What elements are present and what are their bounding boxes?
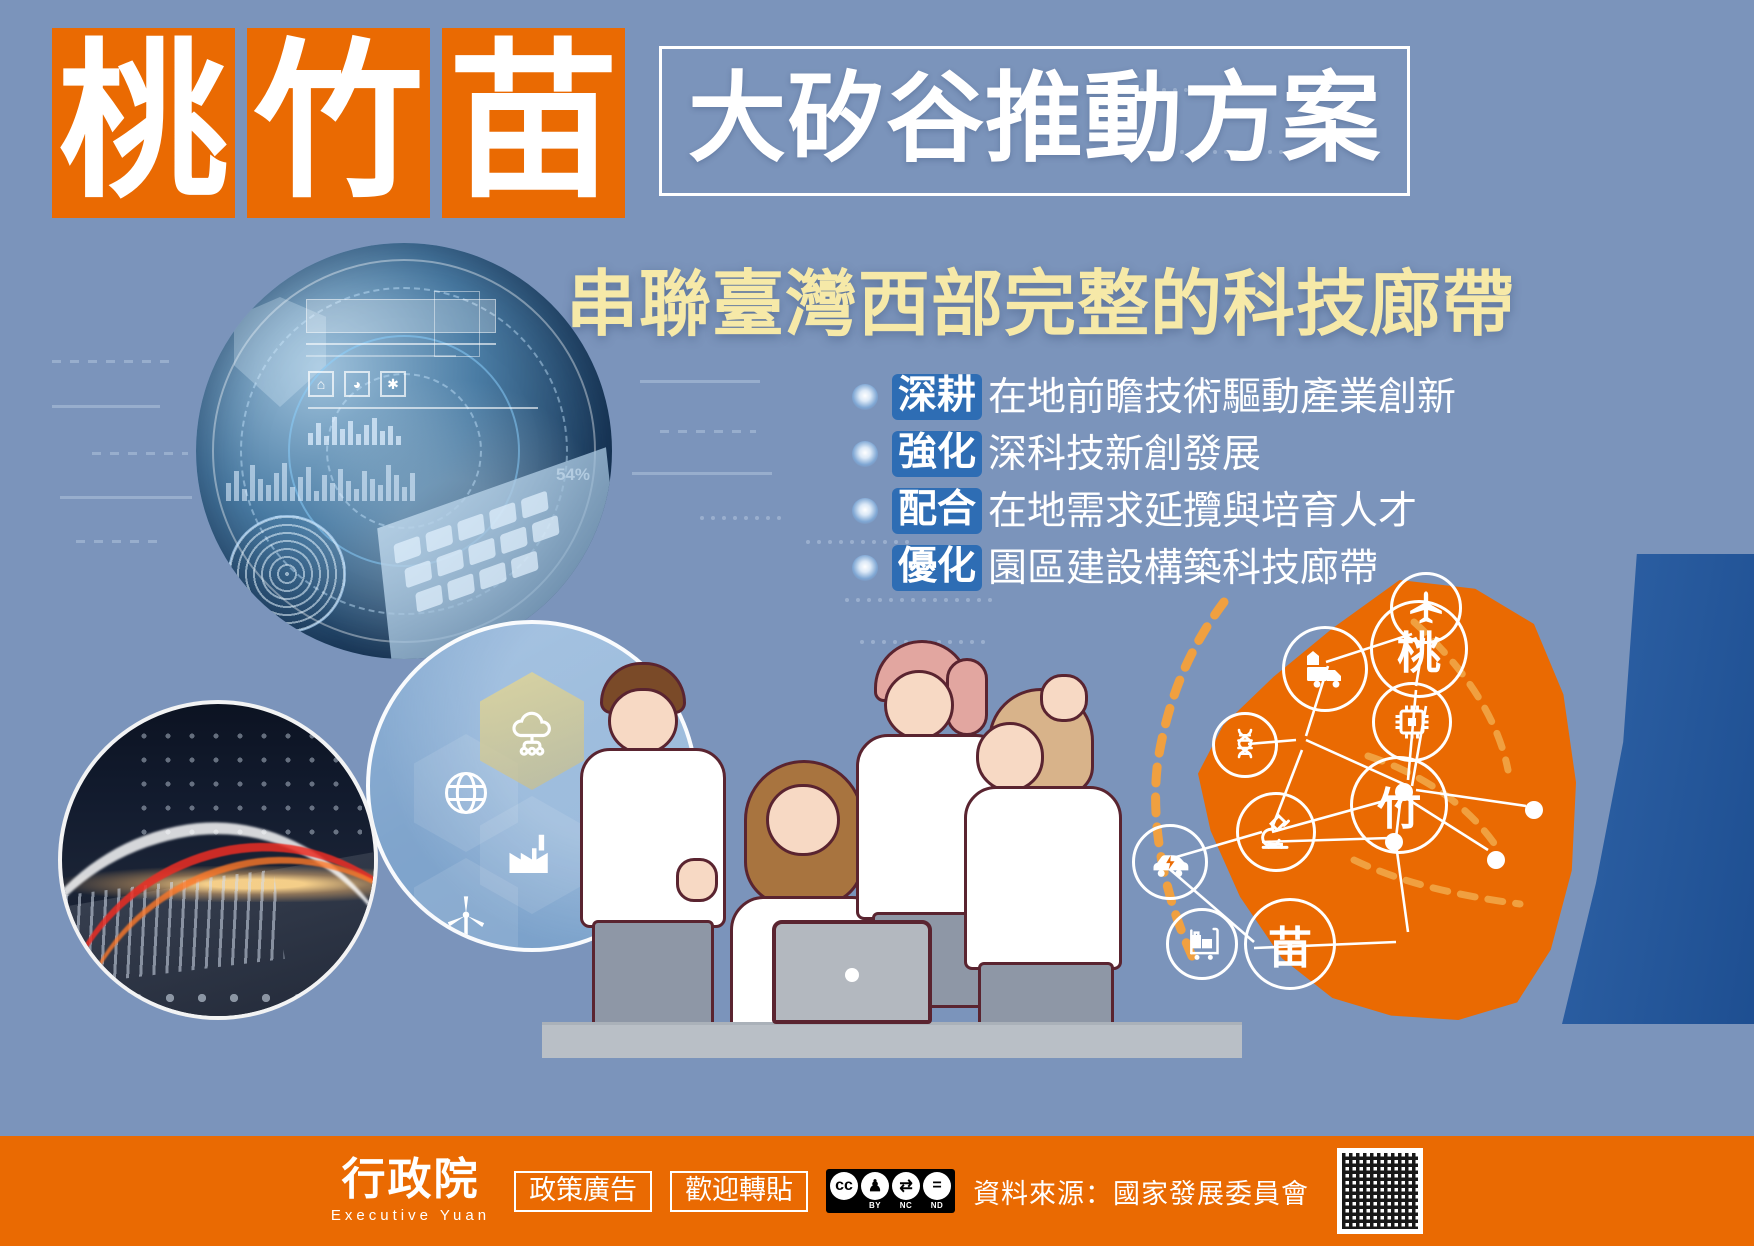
decor-line-4 bbox=[632, 472, 772, 475]
source-text: 資料來源：國家發展委員會 bbox=[973, 1172, 1309, 1211]
bullet-text-1: 深科技新創發展 bbox=[988, 435, 1261, 474]
no-commercial-icon: ⇄ bbox=[892, 1172, 920, 1200]
bullet-text-2: 在地需求延攬與培育人才 bbox=[988, 492, 1417, 531]
tag-policy-ad: 政策廣告 bbox=[514, 1171, 652, 1212]
region-char-box-2: 苗 bbox=[442, 28, 625, 218]
map-node-logistics bbox=[1282, 626, 1368, 712]
bullet-glow-dot-icon bbox=[852, 441, 878, 467]
bullet-glow-dot-icon bbox=[852, 384, 878, 410]
poster-canvas: 桃 竹 苗 大矽谷推動方案 串聯臺灣西部完整的科技廊帶 深耕 在地前瞻技術驅動產… bbox=[0, 0, 1754, 1246]
taiwan-northwest-map: 桃 竹 苗 bbox=[1096, 560, 1754, 1030]
region-char-2: 苗 bbox=[448, 38, 618, 208]
home-icon: ⌂ bbox=[308, 371, 334, 397]
city-label-miaoli: 苗 bbox=[1268, 912, 1312, 976]
bullet-item-0: 深耕 在地前瞻技術驅動產業創新 bbox=[852, 372, 1456, 422]
bullet-glow-dot-icon bbox=[852, 498, 878, 524]
fingerprint-icon bbox=[228, 515, 346, 633]
face bbox=[884, 670, 954, 740]
night-highway-image bbox=[58, 700, 378, 1020]
luggage-cart-icon bbox=[1182, 924, 1222, 964]
bullet-keyword-0: 深耕 bbox=[892, 374, 982, 420]
executive-yuan-logo: 行政院 Executive Yuan bbox=[331, 1158, 490, 1224]
decor-line-2 bbox=[60, 496, 192, 499]
logistics-truck-icon bbox=[1301, 645, 1349, 693]
footer-bar: 行政院 Executive Yuan 政策廣告 歡迎轉貼 cc ♟ BY ⇄ N… bbox=[0, 1136, 1754, 1246]
decor-dash-2 bbox=[92, 452, 188, 455]
gear-icon: ✱ bbox=[380, 371, 406, 397]
decor-line-3 bbox=[640, 380, 760, 383]
region-char-box-1: 竹 bbox=[247, 28, 430, 218]
region-char-box-0: 桃 bbox=[52, 28, 235, 218]
qr-code[interactable] bbox=[1337, 1148, 1423, 1234]
map-node-research bbox=[1236, 792, 1316, 872]
map-city-hsinchu: 竹 bbox=[1350, 756, 1448, 854]
bullet-keyword-1: 強化 bbox=[892, 431, 982, 477]
laptop bbox=[772, 920, 932, 1024]
bullet-item-1: 強化 深科技新創發展 bbox=[852, 429, 1456, 479]
decor-dash-3 bbox=[76, 540, 164, 543]
agency-name-cjk: 行政院 bbox=[341, 1158, 479, 1202]
raised-hand bbox=[1040, 674, 1088, 722]
program-title-frame: 大矽谷推動方案 bbox=[659, 46, 1410, 196]
bullet-item-2: 配合 在地需求延攬與培育人才 bbox=[852, 486, 1456, 536]
sub-headline: 串聯臺灣西部完整的科技廊帶 bbox=[566, 268, 1515, 340]
map-node-biotech bbox=[1212, 712, 1278, 778]
region-char-0: 桃 bbox=[58, 38, 228, 208]
decor-line-1 bbox=[52, 405, 160, 408]
decor-dash-1 bbox=[52, 360, 172, 363]
city-label-hsinchu: 竹 bbox=[1377, 773, 1421, 837]
cc-badge-label-3: ND bbox=[931, 1201, 944, 1210]
bullet-keyword-2: 配合 bbox=[892, 488, 982, 534]
cc-badge-nc: ⇄ NC bbox=[892, 1172, 920, 1210]
cc-badge-cc: cc bbox=[830, 1172, 858, 1210]
agency-name-en: Executive Yuan bbox=[331, 1207, 490, 1224]
trousers bbox=[592, 920, 714, 1030]
bullet-text-0: 在地前瞻技術驅動產業創新 bbox=[988, 378, 1456, 417]
globe-icon bbox=[440, 767, 492, 819]
bullet-keyword-3: 優化 bbox=[892, 545, 982, 591]
electric-car-icon bbox=[1148, 840, 1192, 884]
region-char-1: 竹 bbox=[253, 38, 423, 208]
creative-commons-badges: cc ♟ BY ⇄ NC = ND bbox=[826, 1169, 955, 1213]
dna-icon bbox=[1227, 727, 1263, 763]
map-city-taoyuan: 桃 bbox=[1370, 600, 1468, 698]
hand bbox=[676, 858, 718, 902]
title-row: 桃 竹 苗 大矽谷推動方案 bbox=[52, 28, 1410, 218]
tech-data-sphere-image: ⌂ ◕ ✱ 54% bbox=[196, 243, 612, 659]
microscope-icon bbox=[1254, 810, 1298, 854]
wind-turbine-icon bbox=[440, 891, 492, 943]
cc-badge-label-1: BY bbox=[869, 1201, 881, 1210]
bullet-glow-dot-icon bbox=[852, 555, 878, 581]
map-city-miaoli: 苗 bbox=[1244, 898, 1336, 990]
face bbox=[608, 688, 678, 754]
decor-halftone-bottom bbox=[122, 982, 372, 1012]
cc-badge-nd: = ND bbox=[923, 1172, 951, 1210]
cloud-network-icon bbox=[505, 704, 559, 758]
factory-icon bbox=[505, 828, 559, 882]
face bbox=[766, 784, 840, 856]
decor-dash-4 bbox=[660, 430, 756, 433]
microchip-icon bbox=[1390, 700, 1434, 744]
cc-badge-label-2: NC bbox=[900, 1201, 913, 1210]
no-derivatives-icon: = bbox=[923, 1172, 951, 1200]
pie-chart-icon: ◕ bbox=[344, 371, 370, 397]
decor-dots-1 bbox=[700, 516, 781, 520]
program-title: 大矽谷推動方案 bbox=[688, 70, 1381, 168]
person-icon: ♟ bbox=[861, 1172, 889, 1200]
laptop-logo bbox=[845, 968, 859, 982]
cc-badge-by: ♟ BY bbox=[861, 1172, 889, 1210]
tag-share: 歡迎轉貼 bbox=[670, 1171, 808, 1212]
face bbox=[976, 722, 1044, 792]
cc-icon: cc bbox=[830, 1172, 858, 1200]
city-label-taoyuan: 桃 bbox=[1397, 617, 1441, 681]
map-node-luggage bbox=[1166, 908, 1238, 980]
map-node-ev bbox=[1132, 824, 1208, 900]
